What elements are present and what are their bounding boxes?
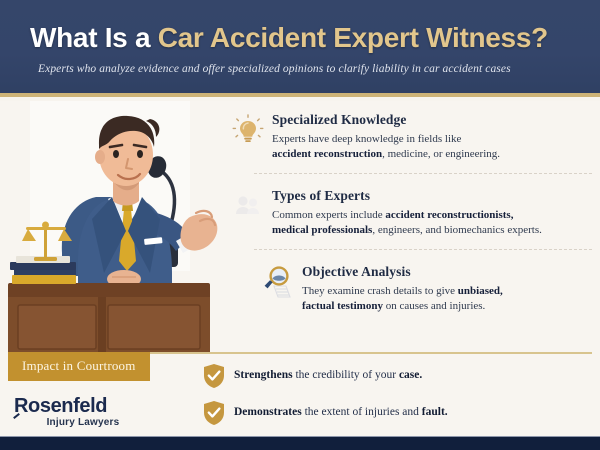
impact-badge: Impact in Courtroom xyxy=(8,352,150,381)
body-line-1: They examine crash details to give xyxy=(302,285,458,297)
body-line-1-bold: accident reconstructionists, xyxy=(385,209,513,221)
magnifying-glass-icon xyxy=(262,264,296,300)
list-item: Types of Experts Common experts include … xyxy=(228,188,600,250)
list-item-title: Types of Experts xyxy=(272,188,600,204)
lightbulb-icon xyxy=(232,114,264,146)
shield-check-icon xyxy=(202,363,226,389)
body-line-1: Experts have deep knowledge in fields li… xyxy=(272,133,461,145)
checklist-rest: the credibility of your xyxy=(293,369,399,381)
checklist-text: Strengthens the credibility of your case… xyxy=(234,369,422,381)
infographic-canvas: What Is a Car Accident Expert Witness? E… xyxy=(0,0,600,450)
footer-bar xyxy=(0,436,600,450)
list-item-title: Objective Analysis xyxy=(302,264,600,280)
checklist-bold: Strengthens xyxy=(234,369,293,381)
body-line-2-rest: , engineers, and biomechanics experts. xyxy=(372,224,542,236)
list-item-title: Specialized Knowledge xyxy=(272,112,600,128)
body-line-2-bold: factual testimony xyxy=(302,300,383,312)
people-group-icon xyxy=(232,190,264,222)
body-line-2-bold: accident reconstruction xyxy=(272,148,382,160)
key-points-list: Specialized Knowledge Experts have deep … xyxy=(228,112,600,326)
body-line-2-rest: on causes and injuries. xyxy=(383,300,485,312)
page-subtitle: Experts who analyze evidence and offer s… xyxy=(38,63,511,75)
logo-name-text: Rosenfeld xyxy=(14,395,107,417)
impact-checklist: Strengthens the credibility of your case… xyxy=(196,362,600,430)
shield-check-icon xyxy=(202,400,226,426)
page-title-plain: What Is a xyxy=(30,22,158,53)
checklist-bold: Demonstrates xyxy=(234,406,302,418)
checklist-text: Demonstrates the extent of injuries and … xyxy=(234,406,448,418)
logo-tagline: Injury Lawyers xyxy=(14,417,152,428)
checklist-bold-2: fault. xyxy=(422,406,448,418)
list-item-body: They examine crash details to give unbia… xyxy=(302,284,600,314)
list-item: Specialized Knowledge Experts have deep … xyxy=(228,112,600,174)
expert-witness-illustration: Expert Witness xyxy=(0,101,218,353)
list-item-body: Common experts include accident reconstr… xyxy=(272,208,600,238)
checklist-row: Strengthens the credibility of your case… xyxy=(196,362,600,393)
list-item: Objective Analysis They examine crash de… xyxy=(228,264,600,326)
rosenfeld-logo[interactable]: Rosenfeld Injury Lawyers xyxy=(14,396,184,428)
checklist-bold-2: case. xyxy=(399,369,422,381)
body-line-2-bold: medical professionals xyxy=(272,224,372,236)
checklist-rest: the extent of injuries and xyxy=(302,406,422,418)
checklist-row: Demonstrates the extent of injuries and … xyxy=(196,399,600,430)
body-line-2-rest: , medicine, or engineering. xyxy=(382,148,500,160)
header-banner: What Is a Car Accident Expert Witness? E… xyxy=(0,0,600,97)
list-item-body: Experts have deep knowledge in fields li… xyxy=(272,132,600,162)
body-line-1: Common experts include xyxy=(272,209,385,221)
logo-name: Rosenfeld xyxy=(14,396,184,416)
page-title: What Is a Car Accident Expert Witness? xyxy=(30,22,548,54)
body-line-1-bold: unbiased, xyxy=(458,285,503,297)
page-title-accent: Car Accident Expert Witness? xyxy=(158,22,548,53)
